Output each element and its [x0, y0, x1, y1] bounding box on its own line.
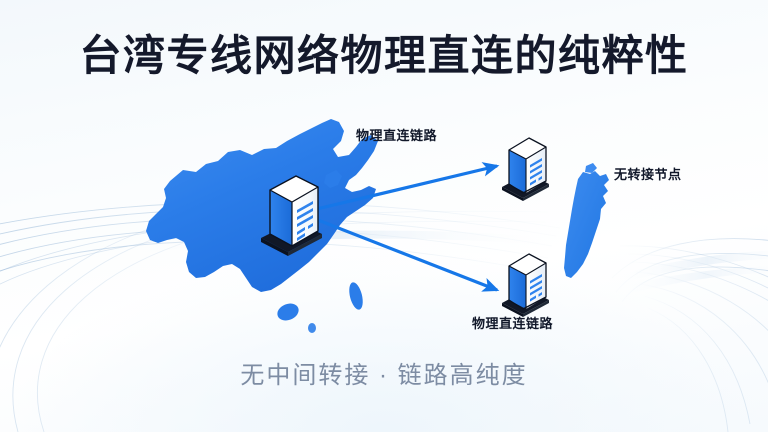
slide-canvas: 台湾专线网络物理直连的纯粹性 [0, 0, 768, 432]
node-b-server-icon [495, 248, 555, 318]
label-link-top: 物理直连链路 [356, 125, 437, 144]
page-subtitle: 无中间转接 · 链路高纯度 [0, 360, 768, 392]
node-a-server-icon [495, 132, 555, 202]
label-no-relay: 无转接节点 [614, 164, 682, 183]
label-link-bottom: 物理直连链路 [472, 313, 553, 332]
center-server-icon [252, 168, 330, 256]
